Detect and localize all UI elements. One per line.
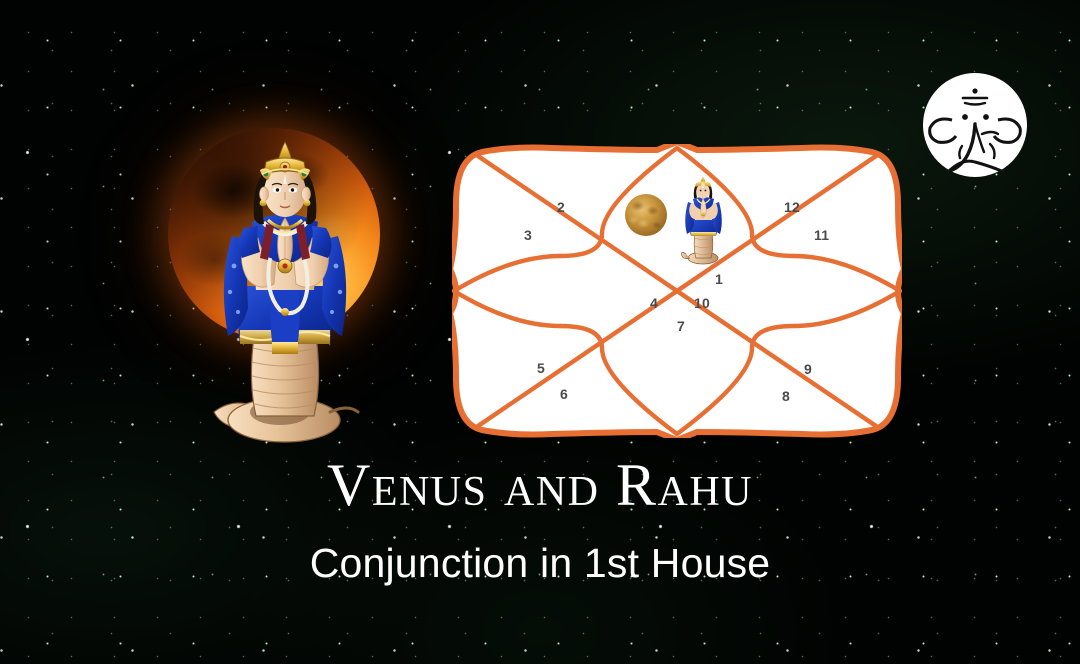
- rahu-deity-graphic: [160, 118, 405, 448]
- rahu-deity-illustration: [202, 140, 367, 448]
- house-number-8: 8: [782, 389, 790, 403]
- house-number-1: 1: [715, 272, 723, 286]
- house-number-12: 12: [784, 200, 800, 214]
- house-number-5: 5: [537, 361, 545, 375]
- page-subtitle: Conjunction in 1st House: [0, 540, 1080, 587]
- house-number-4: 4: [650, 296, 658, 310]
- house-number-6: 6: [560, 387, 568, 401]
- ganesha-logo[interactable]: [922, 72, 1028, 178]
- venus-planet-icon: [625, 194, 667, 236]
- banner: 1 2 3 4 5 6 7 8 9 10 11 12 Venus and Rah…: [0, 0, 1080, 664]
- chart-diagram: [452, 144, 902, 438]
- page-title: Venus and Rahu: [0, 455, 1080, 515]
- rahu-figure-icon: [680, 176, 726, 266]
- vedic-birth-chart[interactable]: 1 2 3 4 5 6 7 8 9 10 11 12: [452, 144, 902, 438]
- house-number-10: 10: [694, 296, 710, 310]
- house-number-3: 3: [524, 228, 532, 242]
- house-number-11: 11: [814, 228, 829, 242]
- house-number-2: 2: [557, 200, 565, 214]
- house-number-7: 7: [677, 319, 685, 333]
- house-number-9: 9: [804, 362, 812, 376]
